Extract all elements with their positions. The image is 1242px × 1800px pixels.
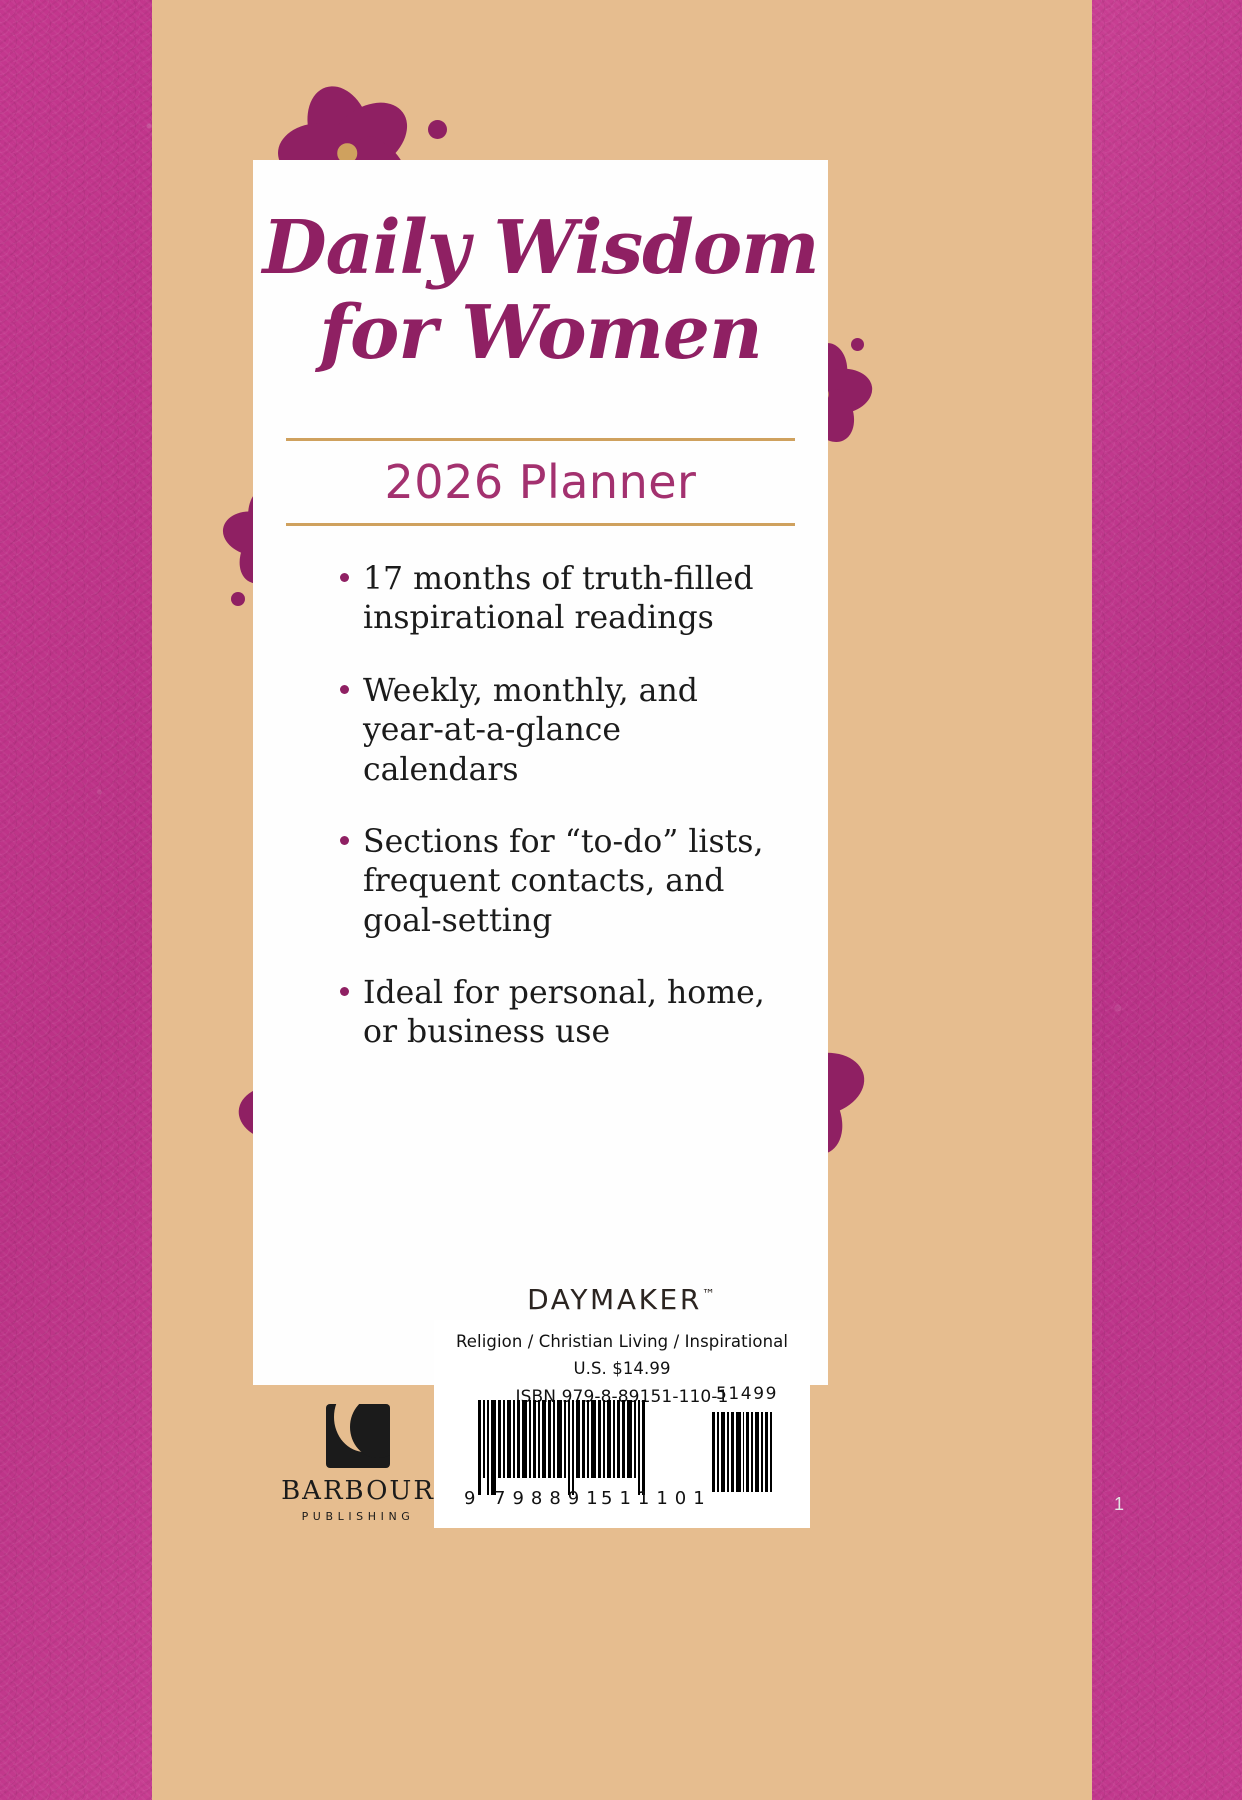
- gold-rule-below-subtitle: [286, 523, 795, 526]
- book-title-line2: for Women: [253, 297, 828, 370]
- ean-lead-digit: 9: [464, 1488, 476, 1509]
- price-addon-digits: 51499: [711, 1384, 783, 1404]
- book-back-cover: Daily Wisdom for Women 2026 Planner 17 m…: [0, 0, 1242, 1800]
- flower-accent-dot: [851, 338, 864, 351]
- ean-group-left: 798891: [494, 1488, 605, 1509]
- bisac-category: Religion / Christian Living / Inspiratio…: [434, 1320, 810, 1351]
- price-addon-barcode: [712, 1412, 774, 1492]
- content-card: Daily Wisdom for Women 2026 Planner 17 m…: [253, 160, 828, 1385]
- publisher-name: BARBOUR: [278, 1476, 438, 1506]
- list-item: Weekly, monthly, and year-at-a-glance ca…: [338, 672, 768, 790]
- publisher-tagline: PUBLISHING: [278, 1510, 438, 1523]
- feature-text: Weekly, monthly, and year-at-a-glance ca…: [363, 673, 698, 788]
- flower-accent-dot: [428, 120, 447, 139]
- feature-text: Sections for “to-do” lists, frequent con…: [363, 824, 764, 939]
- bullet-dot-icon: [340, 685, 349, 694]
- bullet-dot-icon: [340, 987, 349, 996]
- bullet-dot-icon: [340, 573, 349, 582]
- book-wave-icon: [326, 1404, 390, 1468]
- feature-text: Ideal for personal, home, or business us…: [363, 975, 765, 1050]
- ean-group-right: 511101: [601, 1488, 712, 1509]
- feature-list: 17 months of truth-filled inspirational …: [338, 560, 768, 1053]
- imprint-name: DAYMAKER™: [0, 1283, 1242, 1316]
- barcode-block: Religion / Christian Living / Inspiratio…: [434, 1320, 810, 1528]
- flower-accent-dot: [231, 592, 245, 606]
- feature-text: 17 months of truth-filled inspirational …: [363, 561, 754, 636]
- bullet-dot-icon: [340, 836, 349, 845]
- list-item: Sections for “to-do” lists, frequent con…: [338, 823, 768, 941]
- gold-rule-above-subtitle: [286, 438, 795, 441]
- ean13-barcode: [478, 1400, 694, 1495]
- book-title-line1: Daily Wisdom: [262, 205, 818, 291]
- price-label: U.S. $14.99: [434, 1351, 810, 1378]
- publisher-logo: BARBOUR PUBLISHING: [278, 1404, 438, 1523]
- trademark-symbol: ™: [702, 1288, 715, 1303]
- book-subtitle: 2026 Planner: [253, 455, 828, 509]
- list-item: Ideal for personal, home, or business us…: [338, 974, 768, 1053]
- page-number: 1: [1114, 1494, 1124, 1515]
- list-item: 17 months of truth-filled inspirational …: [338, 560, 768, 639]
- imprint-label: DAYMAKER: [527, 1283, 702, 1316]
- book-title: Daily Wisdom for Women: [253, 212, 828, 369]
